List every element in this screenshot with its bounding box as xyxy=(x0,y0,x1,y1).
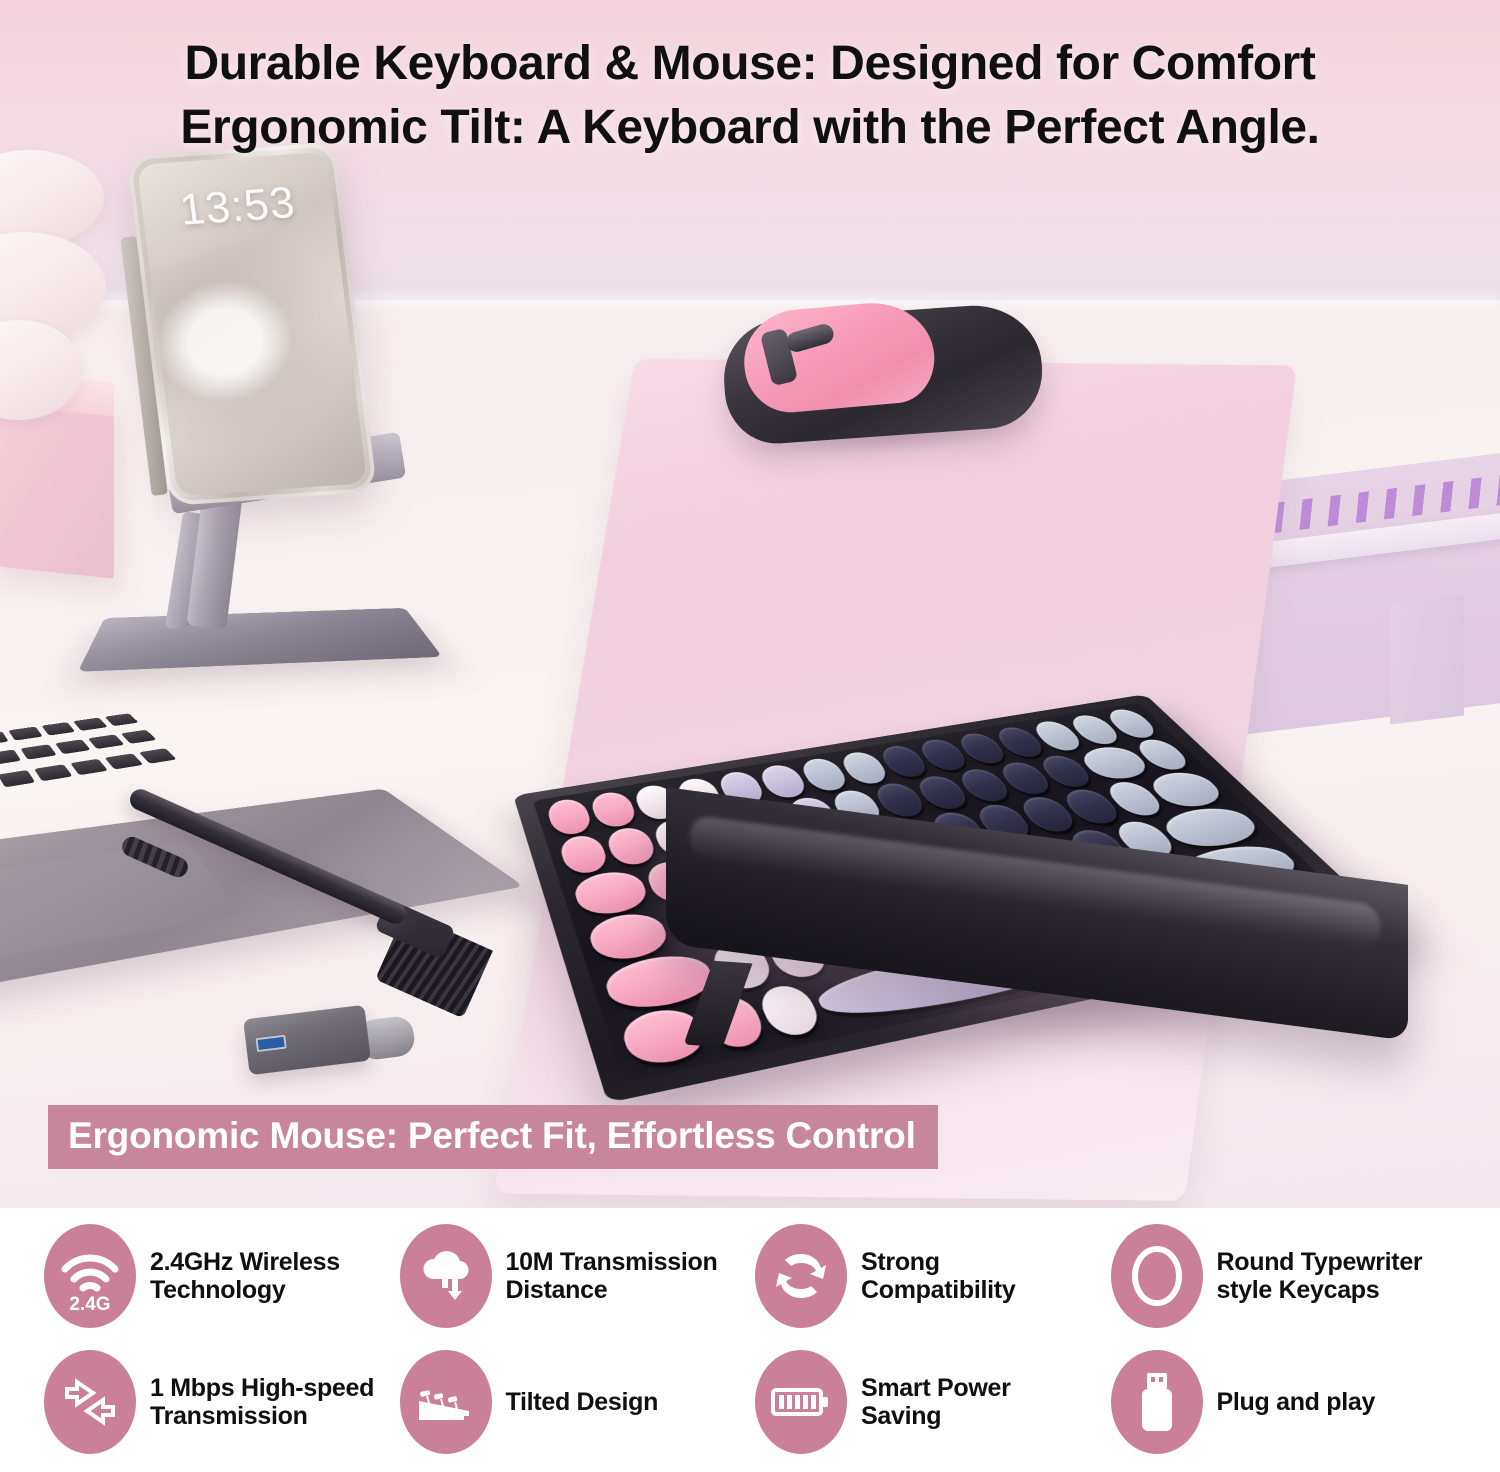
smartphone: 13:53 xyxy=(127,142,378,506)
feature-label-line2: Saving xyxy=(861,1402,1011,1431)
page-title: Durable Keyboard & Mouse: Designed for C… xyxy=(0,34,1500,158)
tilted-keyboard-icon xyxy=(400,1350,492,1454)
feature-label: 1 Mbps High-speed Transmission xyxy=(150,1374,374,1431)
feature-label-line2: Distance xyxy=(506,1276,718,1305)
feature-label-line2: Compatibility xyxy=(861,1276,1015,1305)
feature-label: 10M Transmission Distance xyxy=(506,1248,718,1305)
feature-item-power: Smart Power Saving xyxy=(755,1342,1101,1462)
feature-label-line2: Transmission xyxy=(150,1402,374,1431)
headline-line-1: Durable Keyboard & Mouse: Designed for C… xyxy=(60,34,1440,94)
feature-label-line2: style Keycaps xyxy=(1217,1276,1423,1305)
feature-label: 2.4GHz Wireless Technology xyxy=(150,1248,340,1305)
feature-label-line1: Smart Power xyxy=(861,1374,1011,1403)
usb-a-port xyxy=(255,1035,286,1053)
feature-label-line1: 10M Transmission xyxy=(506,1248,718,1277)
feature-label: Plug and play xyxy=(1217,1388,1376,1417)
feature-item-wireless: 2.4G 2.4GHz Wireless Technology xyxy=(44,1216,390,1336)
feature-item-keycaps: Round Typewriter style Keycaps xyxy=(1111,1216,1457,1336)
shelf-leg xyxy=(1390,595,1464,724)
feature-item-speed: 1 Mbps High-speed Transmission xyxy=(44,1342,390,1462)
feature-grid: 2.4G 2.4GHz Wireless Technology 10M Tran… xyxy=(0,1208,1500,1472)
feature-label: Strong Compatibility xyxy=(861,1248,1015,1305)
headline-line-2: Ergonomic Tilt: A Keyboard with the Perf… xyxy=(60,98,1440,158)
feature-item-compatibility: Strong Compatibility xyxy=(755,1216,1101,1336)
feature-item-plug-and-play: Plug and play xyxy=(1111,1342,1457,1462)
round-keycap-icon xyxy=(1111,1224,1203,1328)
product-photo-scene: 13:53 xyxy=(0,0,1500,1208)
feature-label-line1: 2.4GHz Wireless xyxy=(150,1248,340,1277)
feature-label-line1: Round Typewriter xyxy=(1217,1248,1423,1277)
battery-icon xyxy=(755,1350,847,1454)
feature-label-line2: Technology xyxy=(150,1276,340,1305)
phone-wallpaper xyxy=(127,209,378,493)
feature-label-line1: 1 Mbps High-speed xyxy=(150,1374,374,1403)
feature-label: Round Typewriter style Keycaps xyxy=(1217,1248,1423,1305)
wifi-badge-label: 2.4G xyxy=(44,1294,136,1316)
usb-dongle-icon xyxy=(1111,1350,1203,1454)
bidirectional-arrows-icon xyxy=(44,1350,136,1454)
feature-label-line1: Plug and play xyxy=(1217,1388,1376,1417)
wifi-icon: 2.4G xyxy=(44,1224,136,1328)
cloud-transfer-icon xyxy=(400,1224,492,1328)
phone-screen: 13:53 xyxy=(137,152,368,497)
feature-label-line1: Strong xyxy=(861,1248,1015,1277)
feature-item-tilt: Tilted Design xyxy=(400,1342,746,1462)
feature-label: Tilted Design xyxy=(506,1388,659,1417)
sync-arrows-icon xyxy=(755,1224,847,1328)
product-infographic: 13:53 xyxy=(0,0,1500,1472)
feature-label: Smart Power Saving xyxy=(861,1374,1011,1431)
feature-banner: Ergonomic Mouse: Perfect Fit, Effortless… xyxy=(48,1105,938,1169)
feature-item-distance: 10M Transmission Distance xyxy=(400,1216,746,1336)
feature-label-line1: Tilted Design xyxy=(506,1388,659,1417)
